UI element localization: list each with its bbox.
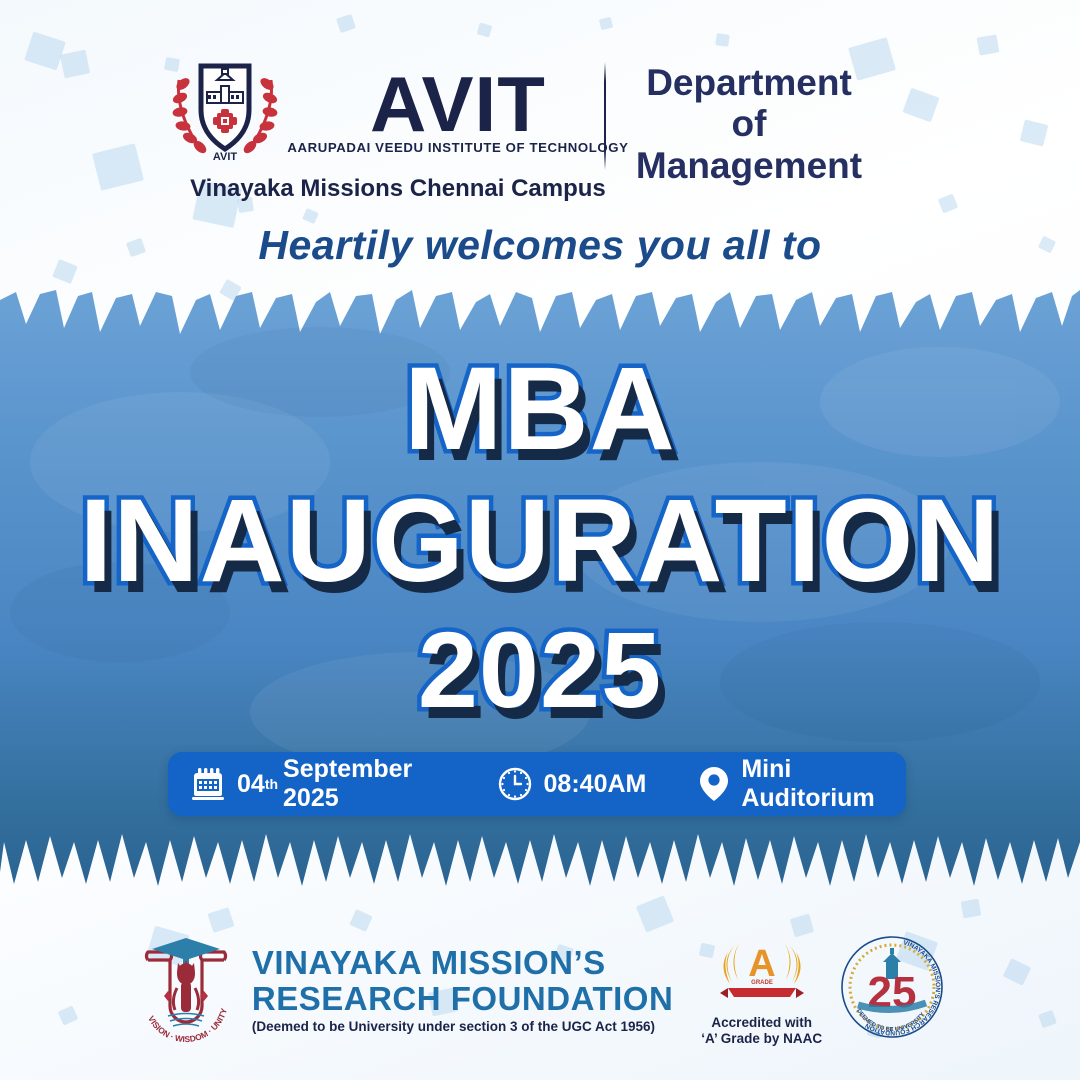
vmrf-deemed-note: (Deemed to be University under section 3…	[252, 1019, 673, 1034]
clock-icon	[497, 766, 533, 802]
vmrf-motto: VISION · WISDOM · UNITY	[146, 1007, 229, 1044]
calendar-icon	[190, 766, 226, 802]
poster: AVIT AVIT AARUPADAI VEEDU INSTITUTE OF T…	[0, 0, 1080, 1080]
naac-badge-icon: A GRADE	[710, 932, 814, 1013]
vmrf-name-line-2: RESEARCH FOUNDATION	[252, 981, 673, 1016]
event-date-suffix: th	[265, 776, 278, 792]
department-line-2: of	[732, 103, 767, 144]
event-time-text: 08:40AM	[544, 770, 647, 799]
naac-grade-sub: GRADE	[751, 980, 773, 986]
event-title: MBA INAUGURATION 2025	[0, 350, 1080, 724]
vmrf-branding: VISION · WISDOM · UNITY VINAYAKA MISSION…	[134, 930, 673, 1049]
avit-crest-icon: AVIT	[167, 56, 283, 169]
naac-grade-letter: A	[748, 943, 775, 985]
event-venue-text: Mini Auditorium	[741, 755, 906, 813]
avit-fullname: AARUPADAI VEEDU INSTITUTE OF TECHNOLOGY	[287, 140, 628, 155]
department-title: Department of Management	[636, 62, 862, 186]
department-line-3: Management	[636, 145, 862, 186]
silver-jubilee-emblem: 25 VINAYAKA MISSION’S RESEARCH FOUNDATIO…	[838, 933, 946, 1046]
naac-accreditation-badge: A GRADE Accredited with ‘A’ Grade by NAA…	[701, 932, 822, 1047]
title-line-2: INAUGURATION	[0, 482, 1080, 600]
naac-caption-1: Accredited with	[701, 1015, 822, 1031]
crest-label: AVIT	[213, 151, 238, 163]
department-line-1: Department	[646, 62, 852, 103]
header-divider	[604, 62, 606, 170]
event-date-rest: September 2025	[283, 755, 445, 813]
avit-campus: Vinayaka Missions Chennai Campus	[190, 175, 606, 203]
footer: VISION · WISDOM · UNITY VINAYAKA MISSION…	[0, 930, 1080, 1049]
welcome-line: Heartily welcomes you all to	[0, 222, 1080, 269]
event-time: 08:40AM	[497, 766, 647, 802]
vmrf-logo-icon: VISION · WISDOM · UNITY	[134, 930, 238, 1049]
header: AVIT AVIT AARUPADAI VEEDU INSTITUTE OF T…	[0, 56, 1080, 203]
avit-wordmark: AVIT	[370, 70, 546, 139]
event-info-bar: 04thSeptember 2025 08:40AM	[168, 752, 906, 816]
naac-caption-2: ‘A’ Grade by NAAC	[701, 1031, 822, 1047]
location-pin-icon	[698, 765, 730, 803]
avit-branding: AVIT AVIT AARUPADAI VEEDU INSTITUTE OF T…	[218, 56, 578, 203]
title-line-1: MBA	[0, 350, 1080, 468]
title-line-3: 2025	[0, 616, 1080, 724]
event-venue: Mini Auditorium	[698, 755, 906, 813]
event-date-day: 04	[237, 770, 265, 799]
vmrf-name-line-1: VINAYAKA MISSION’S	[252, 945, 673, 980]
event-date: 04thSeptember 2025	[190, 755, 445, 813]
